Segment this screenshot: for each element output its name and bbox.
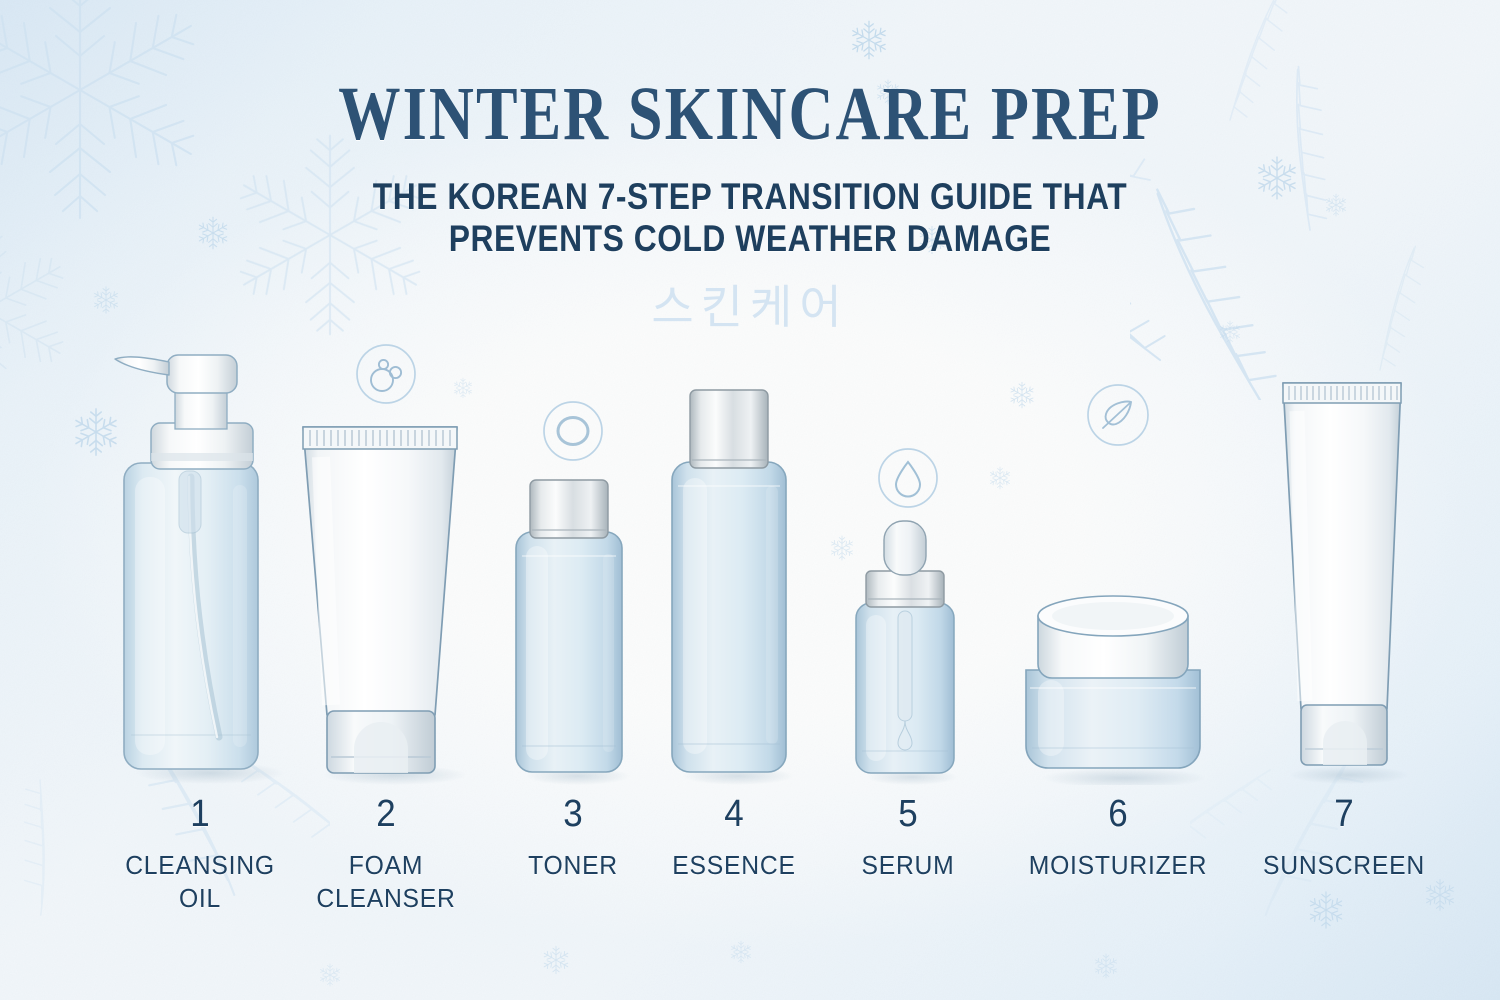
product-slot-essence <box>666 345 802 785</box>
step-number: 4 <box>642 795 826 833</box>
product-slot-toner <box>508 345 638 785</box>
korean-watermark: 스킨케어 <box>0 284 1500 330</box>
step-label-5: 5 SERUM <box>808 795 1008 882</box>
step-number: 2 <box>285 795 487 833</box>
moisturizer-jar-product <box>1018 580 1218 785</box>
step-name: ESSENCE <box>639 849 829 882</box>
step-name: FOAM CLEANSER <box>282 849 491 916</box>
step-label-4: 4 ESSENCE <box>634 795 834 882</box>
step-number: 1 <box>99 795 301 833</box>
step-number: 5 <box>816 795 1000 833</box>
leaf-icon <box>1085 382 1151 448</box>
subtitle-line-1: THE KOREAN 7-STEP TRANSITION GUIDE THAT <box>105 176 1395 218</box>
essence-bottle-product <box>666 380 802 785</box>
product-slot-cleansing-oil <box>105 345 295 785</box>
step-name: SUNSCREEN <box>1225 849 1463 882</box>
step-label-7: 7 SUNSCREEN <box>1219 795 1469 882</box>
page-title: WINTER SKINCARE PREP <box>135 76 1365 152</box>
product-slot-sunscreen <box>1269 345 1419 785</box>
droplet-icon <box>877 447 939 509</box>
foam-cleanser-tube-product <box>291 405 481 785</box>
subtitle-line-2: PREVENTS COLD WEATHER DAMAGE <box>105 218 1395 260</box>
pump-bottle-product <box>105 345 295 785</box>
step-number: 6 <box>998 795 1237 833</box>
concentric-circles-icon <box>542 400 604 462</box>
step-label-2: 2 FOAM CLEANSER <box>276 795 496 916</box>
infographic-canvas: WINTER SKINCARE PREP THE KOREAN 7-STEP T… <box>0 0 1500 1000</box>
sunscreen-tube-product <box>1269 367 1419 785</box>
product-row <box>0 345 1500 785</box>
step-name: CLEANSING OIL <box>96 849 305 916</box>
product-slot-moisturizer <box>1018 345 1218 785</box>
bubbles-icon <box>355 343 417 405</box>
step-name: MOISTURIZER <box>995 849 1242 882</box>
step-name: SERUM <box>813 849 1003 882</box>
header: WINTER SKINCARE PREP THE KOREAN 7-STEP T… <box>0 0 1500 330</box>
page-subtitle: THE KOREAN 7-STEP TRANSITION GUIDE THAT … <box>105 176 1395 260</box>
product-slot-serum <box>848 345 968 785</box>
toner-bottle-product <box>508 470 638 785</box>
product-slot-foam-cleanser <box>291 345 481 785</box>
step-number: 7 <box>1229 795 1459 833</box>
step-label-6: 6 MOISTURIZER <box>988 795 1248 882</box>
serum-dropper-bottle-product <box>848 515 968 785</box>
step-labels: 1 CLEANSING OIL 2 FOAM CLEANSER 3 TONER … <box>0 795 1500 935</box>
